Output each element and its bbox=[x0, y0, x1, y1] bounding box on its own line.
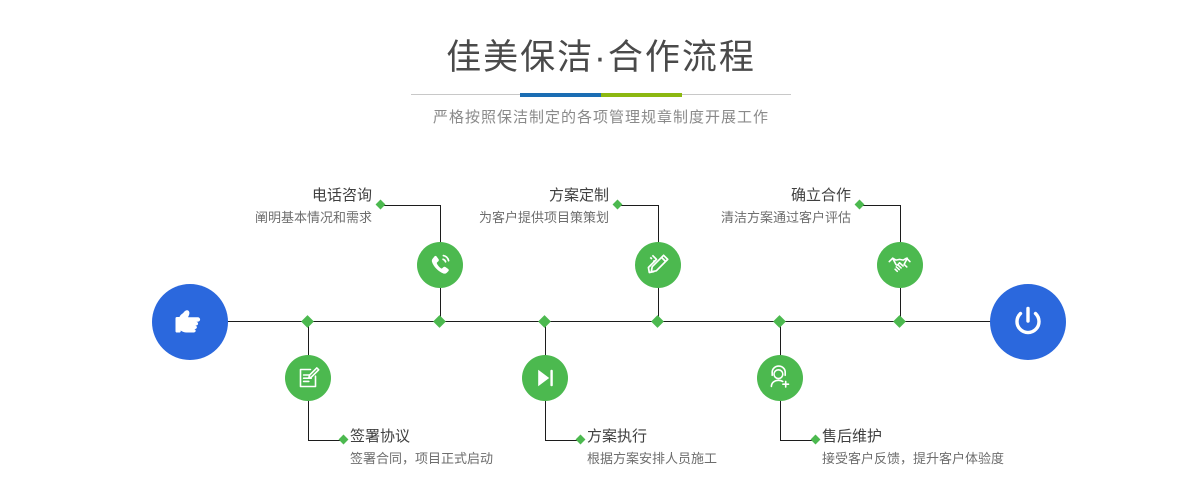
handshake-icon bbox=[886, 251, 914, 279]
step-icon-4[interactable] bbox=[285, 355, 331, 401]
divider-left-rule bbox=[411, 94, 520, 95]
marker-step-4-label bbox=[339, 435, 349, 445]
step-label-2: 方案定制 为客户提供项目策策划 bbox=[392, 186, 609, 227]
step-icon-2[interactable] bbox=[635, 242, 681, 288]
step-icon-1[interactable] bbox=[417, 242, 463, 288]
divider-right-rule bbox=[682, 94, 791, 95]
step-icon-3[interactable] bbox=[877, 242, 923, 288]
connector-step-3-horizontal bbox=[861, 205, 900, 206]
marker-step-1-label bbox=[376, 200, 386, 210]
step-label-4: 签署协议 签署合同，项目正式启动 bbox=[350, 427, 590, 468]
step-subtitle-3: 清洁方案通过客户评估 bbox=[634, 208, 851, 227]
step-subtitle-4: 签署合同，项目正式启动 bbox=[350, 449, 590, 468]
flow-end-node[interactable] bbox=[990, 284, 1066, 360]
power-icon bbox=[1008, 302, 1048, 342]
page-title: 佳美保洁·合作流程 bbox=[0, 38, 1202, 78]
phone-call-icon bbox=[426, 251, 454, 279]
sign-document-icon bbox=[294, 364, 322, 392]
step-subtitle-2: 为客户提供项目策策划 bbox=[392, 208, 609, 227]
step-subtitle-6: 接受客户反馈，提升客户体验度 bbox=[822, 449, 1082, 468]
flow-start-node[interactable] bbox=[152, 284, 228, 360]
step-title-2: 方案定制 bbox=[392, 186, 609, 206]
marker-step-4-axis bbox=[301, 315, 314, 328]
timeline-axis bbox=[215, 321, 1001, 322]
divider-green-segment bbox=[601, 93, 682, 97]
flow-diagram-canvas: 佳美保洁·合作流程 严格按照保洁制定的各项管理规章制度开展工作 bbox=[0, 0, 1202, 502]
step-label-5: 方案执行 根据方案安排人员施工 bbox=[587, 427, 827, 468]
step-icon-5[interactable] bbox=[522, 355, 568, 401]
title-divider bbox=[411, 93, 791, 97]
step-label-3: 确立合作 清洁方案通过客户评估 bbox=[634, 186, 851, 227]
marker-step-5-axis bbox=[538, 315, 551, 328]
step-subtitle-5: 根据方案安排人员施工 bbox=[587, 449, 827, 468]
step-label-1: 电话咨询 阐明基本情况和需求 bbox=[155, 186, 372, 227]
support-agent-add-icon bbox=[766, 364, 794, 392]
marker-step-2-label bbox=[613, 200, 623, 210]
marker-step-3-axis bbox=[893, 315, 906, 328]
pencil-ruler-icon bbox=[644, 251, 672, 279]
step-title-3: 确立合作 bbox=[634, 186, 851, 206]
divider-blue-segment bbox=[520, 93, 601, 97]
marker-step-1-axis bbox=[433, 315, 446, 328]
connector-step-4-horizontal bbox=[308, 440, 343, 441]
marker-step-3-label bbox=[855, 200, 865, 210]
step-subtitle-1: 阐明基本情况和需求 bbox=[155, 208, 372, 227]
step-title-6: 售后维护 bbox=[822, 427, 1082, 447]
marker-step-6-axis bbox=[773, 315, 786, 328]
step-label-6: 售后维护 接受客户反馈，提升客户体验度 bbox=[822, 427, 1082, 468]
step-title-1: 电话咨询 bbox=[155, 186, 372, 206]
pointing-hand-icon bbox=[170, 302, 210, 342]
page-subtitle: 严格按照保洁制定的各项管理规章制度开展工作 bbox=[0, 107, 1202, 129]
step-title-5: 方案执行 bbox=[587, 427, 827, 447]
step-title-4: 签署协议 bbox=[350, 427, 590, 447]
step-icon-6[interactable] bbox=[757, 355, 803, 401]
marker-step-2-axis bbox=[651, 315, 664, 328]
play-next-icon bbox=[531, 364, 559, 392]
